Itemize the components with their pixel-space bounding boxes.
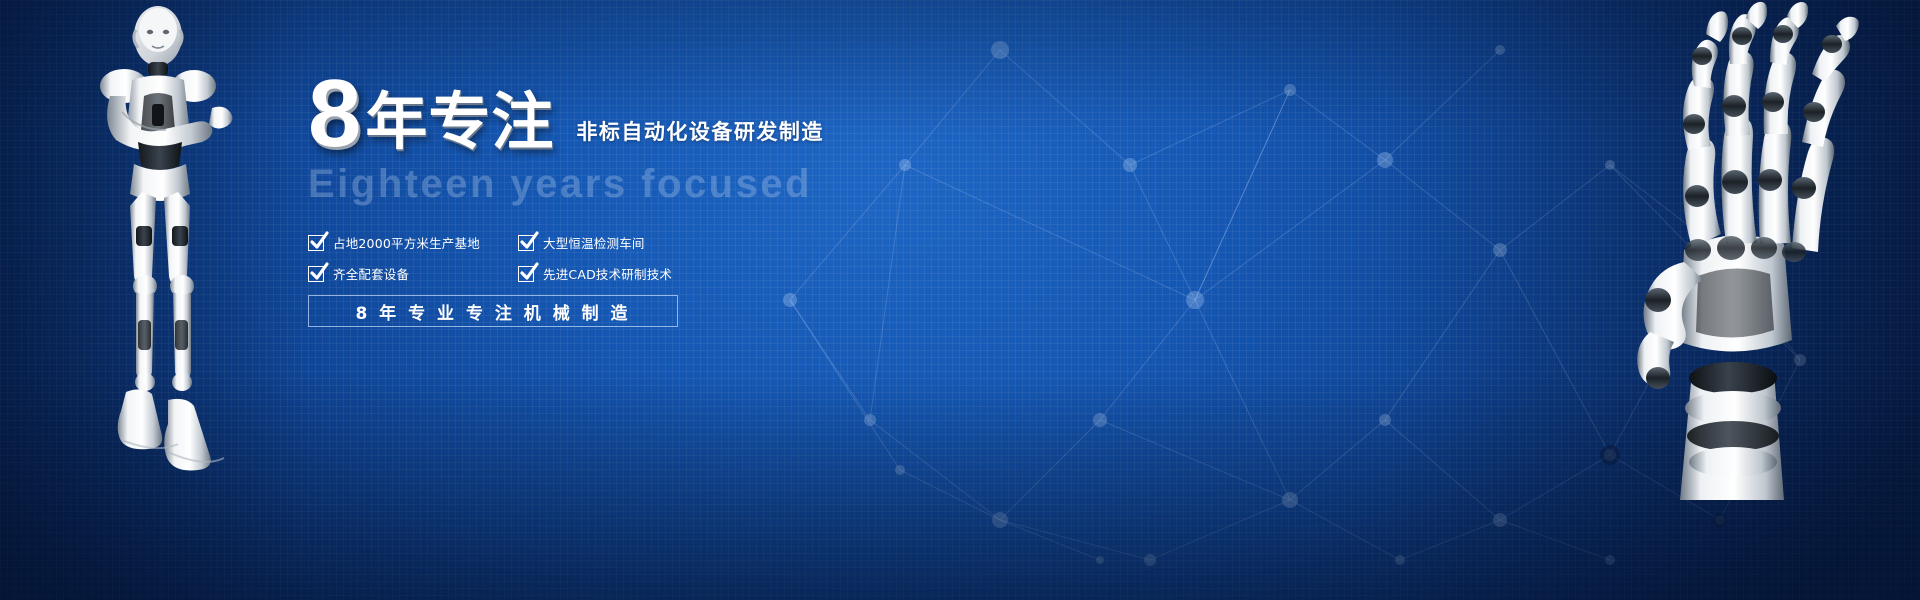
headline-row: 8 年专注 非标自动化设备研发制造	[308, 72, 1028, 158]
feature-item: 先进CAD技术研制技术	[518, 264, 708, 283]
slogan-box: 8 年 专 业 专 注 机 械 制 造	[308, 295, 678, 327]
feature-row: 占地2000平方米生产基地 大型恒温检测车间	[308, 233, 708, 252]
headline-subtitle: 非标自动化设备研发制造	[576, 116, 824, 146]
banner-content: 8 年专注 非标自动化设备研发制造 Eighteen years focused…	[308, 72, 1028, 327]
feature-label: 齐全配套设备	[333, 264, 409, 283]
english-tagline: Eighteen years focused	[308, 162, 1028, 207]
feature-label: 占地2000平方米生产基地	[333, 233, 480, 252]
feature-label: 先进CAD技术研制技术	[543, 264, 672, 283]
years-number: 8	[308, 70, 359, 158]
check-icon	[518, 235, 534, 251]
feature-item: 齐全配套设备	[308, 264, 518, 283]
hero-banner: 8 年专注 非标自动化设备研发制造 Eighteen years focused…	[0, 0, 1920, 600]
check-icon	[308, 266, 324, 282]
feature-row: 齐全配套设备 先进CAD技术研制技术	[308, 264, 708, 283]
check-icon	[308, 235, 324, 251]
check-icon	[518, 266, 534, 282]
feature-item: 占地2000平方米生产基地	[308, 233, 518, 252]
robotic-hand-image	[1580, 0, 1900, 500]
humanoid-robot-image	[62, 0, 272, 500]
feature-list: 占地2000平方米生产基地 大型恒温检测车间 齐全配套设备	[308, 233, 708, 283]
headline-cn: 年专注	[365, 89, 554, 154]
slogan-text: 8 年 专 业 专 注 机 械 制 造	[355, 299, 630, 324]
feature-item: 大型恒温检测车间	[518, 233, 708, 252]
feature-label: 大型恒温检测车间	[543, 233, 645, 252]
